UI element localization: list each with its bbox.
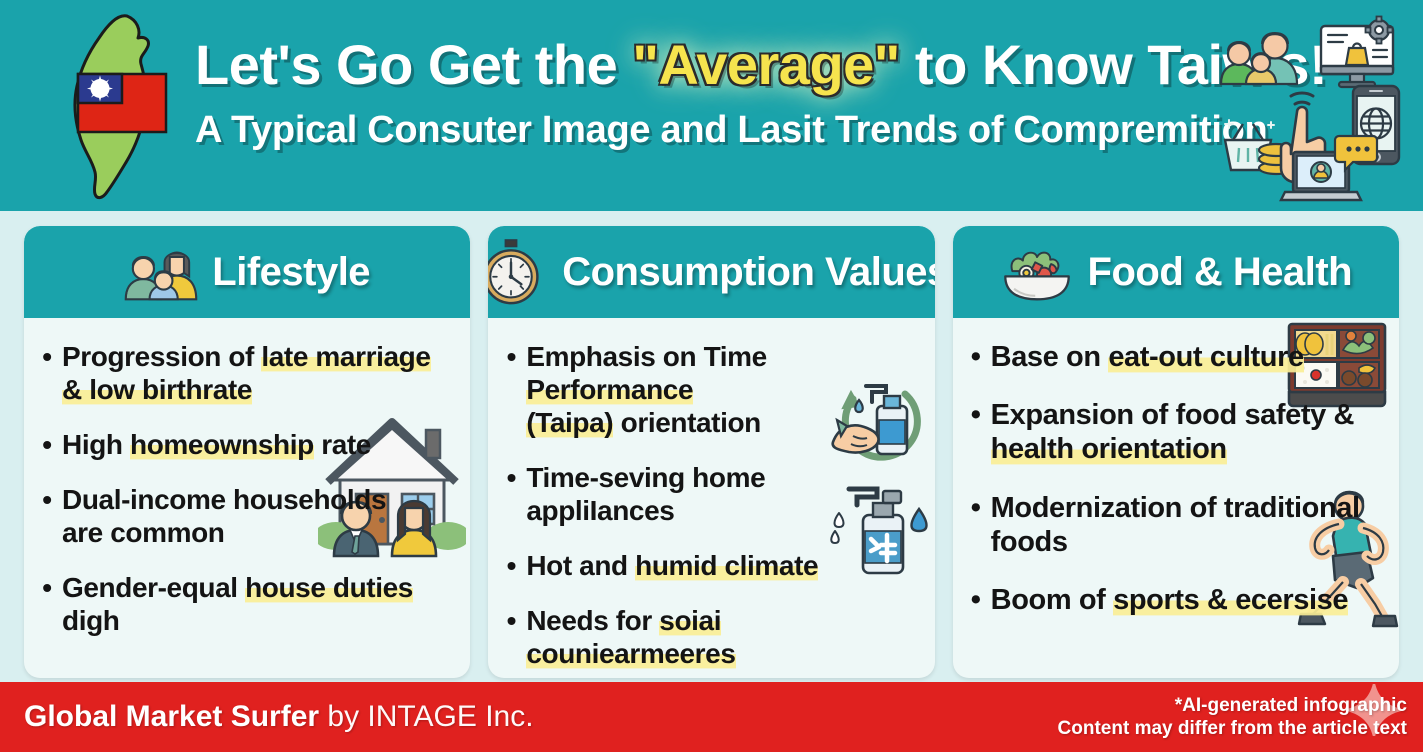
bullet-list-consumption-values: • Emphasis on Time Performance(Taipa) or… [502,340,920,670]
bullet-pre: Needs for [526,605,659,636]
card-title-food-health: Food & Health [1088,250,1353,295]
bullet-dot: • [967,583,985,617]
list-item: • Needs for soiai couniearmeeres [502,604,920,670]
taiwan-flag-map-icon [55,12,185,202]
title-part-1: Let's Go Get the [195,33,632,96]
page-title: Let's Go Get the "Average" to Know Taiw'… [195,36,1215,93]
salad-bowl-icon [1000,239,1074,305]
header-banner: Let's Go Get the "Average" to Know Taiw'… [0,0,1423,211]
stopwatch-clock-icon [488,239,548,305]
footer-disclaimer-line2: Content may differ from the article text [1058,717,1407,740]
card-title-consumption-values: Consumption Values [562,250,934,295]
list-item: • Emphasis on Time Performance(Taipa) or… [502,340,920,439]
bullet-highlight: sports & ecersise [1113,584,1348,616]
list-item: • Time-seving homeappliIances [502,461,920,527]
bullet-dot: • [502,604,520,637]
list-item: • Modernization of traditionalfoods [967,491,1385,559]
bullet-highlight: house duties [245,572,413,603]
bullet-pre: Dual-income householdsare common [62,484,386,548]
bullet-dot: • [967,491,985,525]
title-highlight-average: "Average" [632,33,900,96]
bullet-dot: • [38,428,56,461]
bullet-list-lifestyle: • Progression of late marriage& low birt… [38,340,456,637]
list-item: • Expansion of food safety &health orien… [967,398,1385,466]
desktop-shopping-icon [1321,17,1393,88]
bullet-pre: Hot and [526,550,635,581]
card-food-health: Food & Health [953,226,1399,678]
card-body-lifestyle: • Progression of late marriage& low birt… [24,318,470,678]
card-title-lifestyle: Lifestyle [212,250,370,295]
bullet-dot: • [502,549,520,582]
footer-disclaimer-line1: *AI-generated infographic [1058,694,1407,717]
list-item: • Dual-income householdsare common [38,483,456,549]
card-header-food-health: Food & Health [953,226,1399,318]
columns-container: Lifestyle [0,226,1423,678]
bullet-post: rate [314,429,371,460]
bullet-dot: • [967,340,985,374]
bullet-dot: • [502,461,520,494]
footer-bar: Global Market Surfer by INTAGE Inc. *AI-… [0,682,1423,752]
bullet-pre: Boom of [991,584,1113,616]
bullet-dot: • [38,483,56,516]
family-icon [1221,33,1297,84]
header-icon-cluster [1213,14,1413,204]
bullet-pre: Emphasis on Time [526,341,767,372]
list-item: • Hot and humid climate [502,549,920,582]
card-header-lifestyle: Lifestyle [24,226,470,318]
card-body-consumption-values: • Emphasis on Time Performance(Taipa) or… [488,318,934,678]
card-lifestyle: Lifestyle [24,226,470,678]
card-body-food-health: • Base on eat-out culture • Expansion of… [953,318,1399,678]
bullet-highlight: humid climate [635,550,818,581]
footer-disclaimer: *AI-generated infographic Content may di… [1058,694,1407,740]
bullet-post: digh [62,605,120,636]
list-item: • Base on eat-out culture [967,340,1385,374]
list-item: • Boom of sports & ecersise [967,583,1385,617]
bullet-pre: Expansion of food safety & [991,399,1354,431]
bullet-dot: • [38,340,56,373]
bullet-pre: Time-seving homeappliIances [526,462,765,526]
bullet-highlight: health orientation [991,433,1227,465]
bullet-post: orientation [613,407,761,438]
bullet-highlight: homeownship [130,429,314,460]
bullet-dot: • [502,340,520,373]
bullet-pre: Modernization of traditionalfoods [991,492,1360,558]
page-subtitle: A Typical Consuter Image and Lasit Trend… [195,109,1215,152]
bullet-pre: High [62,429,130,460]
bullet-pre: Progression of [62,341,261,372]
bullet-pre: Gender-equal [62,572,245,603]
card-consumption-values: Consumption Values [488,226,934,678]
card-header-consumption-values: Consumption Values [488,226,934,318]
header-text-block: Let's Go Get the "Average" to Know Taiw'… [195,36,1215,152]
bullet-pre: Base on [991,341,1109,373]
bullet-dot: • [38,571,56,604]
list-item: • High homeownship rate [38,428,456,461]
family-icon [124,239,198,305]
list-item: • Progression of late marriage& low birt… [38,340,456,406]
footer-brand: Global Market Surfer by INTAGE Inc. [24,700,534,734]
footer-brand-publisher: by INTAGE Inc. [319,700,534,733]
bullet-dot: • [967,398,985,432]
bullet-highlight: eat-out culture [1108,341,1303,373]
bullet-list-food-health: • Base on eat-out culture • Expansion of… [967,340,1385,617]
list-item: • Gender-equal house duties digh [38,571,456,637]
footer-brand-name: Global Market Surfer [24,700,319,733]
